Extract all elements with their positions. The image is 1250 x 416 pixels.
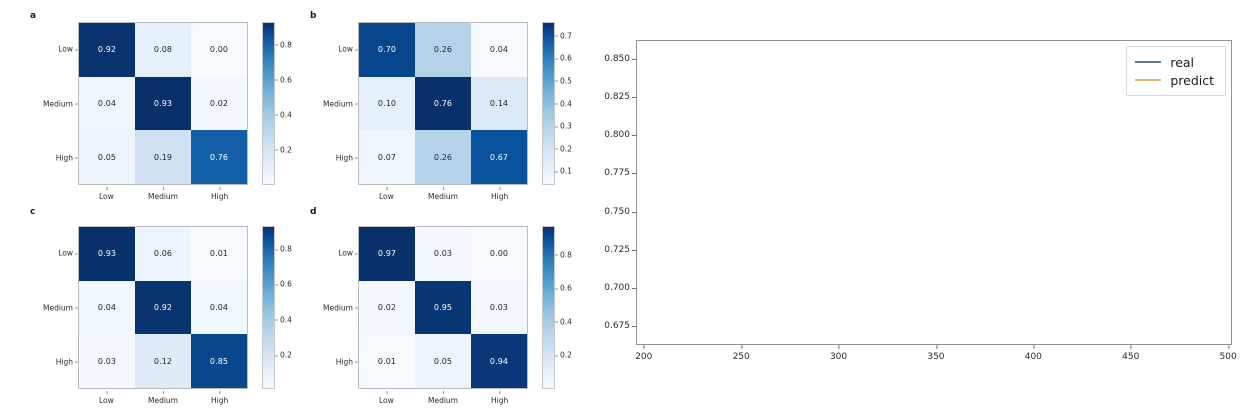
colorbar-tick-label: 0.6 xyxy=(555,54,572,63)
matrix-x-label: High xyxy=(491,396,508,405)
matrix-y-label: High xyxy=(336,153,358,162)
matrix-y-label: Medium xyxy=(43,99,78,108)
x-tick-label: 200 xyxy=(635,345,652,362)
matrix-cell: 0.14 xyxy=(471,77,527,131)
chart-title xyxy=(636,27,1232,39)
colorbar-gradient xyxy=(262,226,275,389)
x-tick-label: 300 xyxy=(830,345,847,362)
matrix-x-label: Low xyxy=(99,192,114,201)
matrix-x-label: Medium xyxy=(428,396,458,405)
colorbar-tick-label: 0.1 xyxy=(555,167,572,176)
matrix-y-labels: LowMediumHigh xyxy=(310,22,358,185)
matrix-grid: 0.970.030.000.020.950.030.010.050.94 xyxy=(358,226,528,389)
colorbar-tick-label: 0.4 xyxy=(275,315,292,324)
matrix-y-labels: LowMediumHigh xyxy=(30,22,78,185)
matrix-grid: 0.920.080.000.040.930.020.050.190.76 xyxy=(78,22,248,185)
matrix-cell: 0.00 xyxy=(191,23,247,77)
matrix-x-label: Low xyxy=(379,396,394,405)
matrix-cell: 0.03 xyxy=(79,334,135,388)
matrix-cell: 0.06 xyxy=(135,227,191,281)
colorbar-tick-label: 0.8 xyxy=(275,40,292,49)
y-tick-label: 0.850 xyxy=(604,54,636,64)
y-tick-label: 0.675 xyxy=(604,321,636,331)
matrix-y-labels: LowMediumHigh xyxy=(310,226,358,389)
legend-item-predict[interactable]: predict xyxy=(1135,71,1214,89)
legend-item-real[interactable]: real xyxy=(1135,53,1214,71)
chart-legend[interactable]: realpredict xyxy=(1126,46,1226,96)
legend-swatch-predict xyxy=(1135,79,1161,81)
timeseries-chart: 0.8500.8250.8000.7750.7500.7250.7000.675… xyxy=(636,40,1232,345)
matrix-cell: 0.76 xyxy=(191,130,247,184)
matrix-cell: 0.19 xyxy=(135,130,191,184)
x-tick-label: 500 xyxy=(1220,345,1237,362)
matrix-cell: 0.03 xyxy=(415,227,471,281)
matrix-x-label: Low xyxy=(99,396,114,405)
matrix-cell: 0.94 xyxy=(471,334,527,388)
matrix-grid: 0.700.260.040.100.760.140.070.260.67 xyxy=(358,22,528,185)
matrix-cell: 0.70 xyxy=(359,23,415,77)
colorbar-tick-label: 0.6 xyxy=(275,75,292,84)
matrix-x-label: High xyxy=(491,192,508,201)
confusion-matrix-panel-c: c0.930.060.010.040.920.040.030.120.85Low… xyxy=(30,208,310,408)
colorbar-tick-label: 0.3 xyxy=(555,122,572,131)
panel-label-b: b xyxy=(310,12,316,21)
matrix-cell: 0.01 xyxy=(191,227,247,281)
colorbar-tick-label: 0.4 xyxy=(555,99,572,108)
matrix-cell: 0.00 xyxy=(471,227,527,281)
colorbar-tick-label: 0.8 xyxy=(555,250,572,259)
y-tick-label: 0.800 xyxy=(604,130,636,140)
panel-label-c: c xyxy=(30,208,35,217)
matrix-cell: 0.67 xyxy=(471,130,527,184)
matrix-cell: 0.07 xyxy=(359,130,415,184)
matrix-cell: 0.92 xyxy=(135,281,191,335)
matrix-x-label: Medium xyxy=(148,396,178,405)
matrix-x-label: Low xyxy=(379,192,394,201)
colorbar-tick-label: 0.2 xyxy=(555,351,572,360)
colorbar-tick-label: 0.4 xyxy=(555,317,572,326)
colorbar-tick-label: 0.2 xyxy=(555,144,572,153)
colorbar-tick-label: 0.6 xyxy=(275,280,292,289)
matrix-x-label: Medium xyxy=(148,192,178,201)
matrix-y-label: Low xyxy=(58,249,78,258)
matrix-y-label: High xyxy=(56,357,78,366)
matrix-x-label: High xyxy=(211,192,228,201)
matrix-cell: 0.02 xyxy=(359,281,415,335)
colorbar-tick-label: 0.5 xyxy=(555,76,572,85)
y-tick-label: 0.700 xyxy=(604,283,636,293)
colorbar-tick-label: 0.2 xyxy=(275,351,292,360)
matrix-cell: 0.08 xyxy=(135,23,191,77)
matrix-cell: 0.01 xyxy=(359,334,415,388)
matrix-y-label: Medium xyxy=(43,303,78,312)
x-tick-label: 250 xyxy=(733,345,750,362)
legend-label: predict xyxy=(1170,73,1214,88)
x-tick-label: 450 xyxy=(1122,345,1139,362)
matrix-cell: 0.85 xyxy=(191,334,247,388)
matrix-y-label: Medium xyxy=(323,303,358,312)
matrix-cell: 0.04 xyxy=(191,281,247,335)
y-tick-label: 0.775 xyxy=(604,168,636,178)
matrix-y-label: High xyxy=(56,153,78,162)
matrix-cell: 0.26 xyxy=(415,23,471,77)
matrix-cell: 0.03 xyxy=(471,281,527,335)
colorbar-tick-label: 0.6 xyxy=(555,284,572,293)
colorbar-gradient xyxy=(542,22,555,185)
y-tick-label: 0.750 xyxy=(604,207,636,217)
panel-label-d: d xyxy=(310,208,316,217)
panel-label-a: a xyxy=(30,12,36,21)
matrix-cell: 0.93 xyxy=(135,77,191,131)
matrix-cell: 0.76 xyxy=(415,77,471,131)
matrix-y-label: Medium xyxy=(323,99,358,108)
matrix-cell: 0.04 xyxy=(79,77,135,131)
colorbar: 0.80.60.40.2 xyxy=(542,226,555,389)
colorbar: 0.80.60.40.2 xyxy=(262,22,275,185)
matrix-cell: 0.02 xyxy=(191,77,247,131)
matrix-grid: 0.930.060.010.040.920.040.030.120.85 xyxy=(78,226,248,389)
legend-label: real xyxy=(1170,55,1194,70)
matrix-x-label: High xyxy=(211,396,228,405)
confusion-matrix-panel-a: a0.920.080.000.040.930.020.050.190.76Low… xyxy=(30,12,310,212)
x-tick-label: 400 xyxy=(1025,345,1042,362)
matrix-cell: 0.12 xyxy=(135,334,191,388)
confusion-matrix-panel-b: b0.700.260.040.100.760.140.070.260.67Low… xyxy=(310,12,590,212)
colorbar-gradient xyxy=(262,22,275,185)
colorbar-tick-label: 0.8 xyxy=(275,245,292,254)
matrix-cell: 0.95 xyxy=(415,281,471,335)
y-tick-label: 0.825 xyxy=(604,92,636,102)
y-tick-label: 0.725 xyxy=(604,245,636,255)
matrix-y-label: Low xyxy=(338,45,358,54)
matrix-y-label: High xyxy=(336,357,358,366)
matrix-cell: 0.93 xyxy=(79,227,135,281)
legend-swatch-real xyxy=(1135,61,1161,63)
colorbar: 0.80.60.40.2 xyxy=(262,226,275,389)
matrix-cell: 0.05 xyxy=(79,130,135,184)
colorbar-tick-label: 0.7 xyxy=(555,31,572,40)
matrix-cell: 0.05 xyxy=(415,334,471,388)
figure-root: a0.920.080.000.040.930.020.050.190.76Low… xyxy=(0,0,1250,416)
matrix-cell: 0.26 xyxy=(415,130,471,184)
matrix-y-labels: LowMediumHigh xyxy=(30,226,78,389)
colorbar: 0.70.60.50.40.30.20.1 xyxy=(542,22,555,185)
matrix-cell: 0.97 xyxy=(359,227,415,281)
matrix-x-label: Medium xyxy=(428,192,458,201)
colorbar-tick-label: 0.2 xyxy=(275,145,292,154)
x-tick-label: 350 xyxy=(927,345,944,362)
colorbar-tick-label: 0.4 xyxy=(275,110,292,119)
matrix-y-label: Low xyxy=(58,45,78,54)
matrix-cell: 0.04 xyxy=(79,281,135,335)
matrix-cell: 0.10 xyxy=(359,77,415,131)
matrix-cell: 0.92 xyxy=(79,23,135,77)
matrix-cell: 0.04 xyxy=(471,23,527,77)
colorbar-gradient xyxy=(542,226,555,389)
matrix-y-label: Low xyxy=(338,249,358,258)
confusion-matrix-panel-d: d0.970.030.000.020.950.030.010.050.94Low… xyxy=(310,208,590,408)
